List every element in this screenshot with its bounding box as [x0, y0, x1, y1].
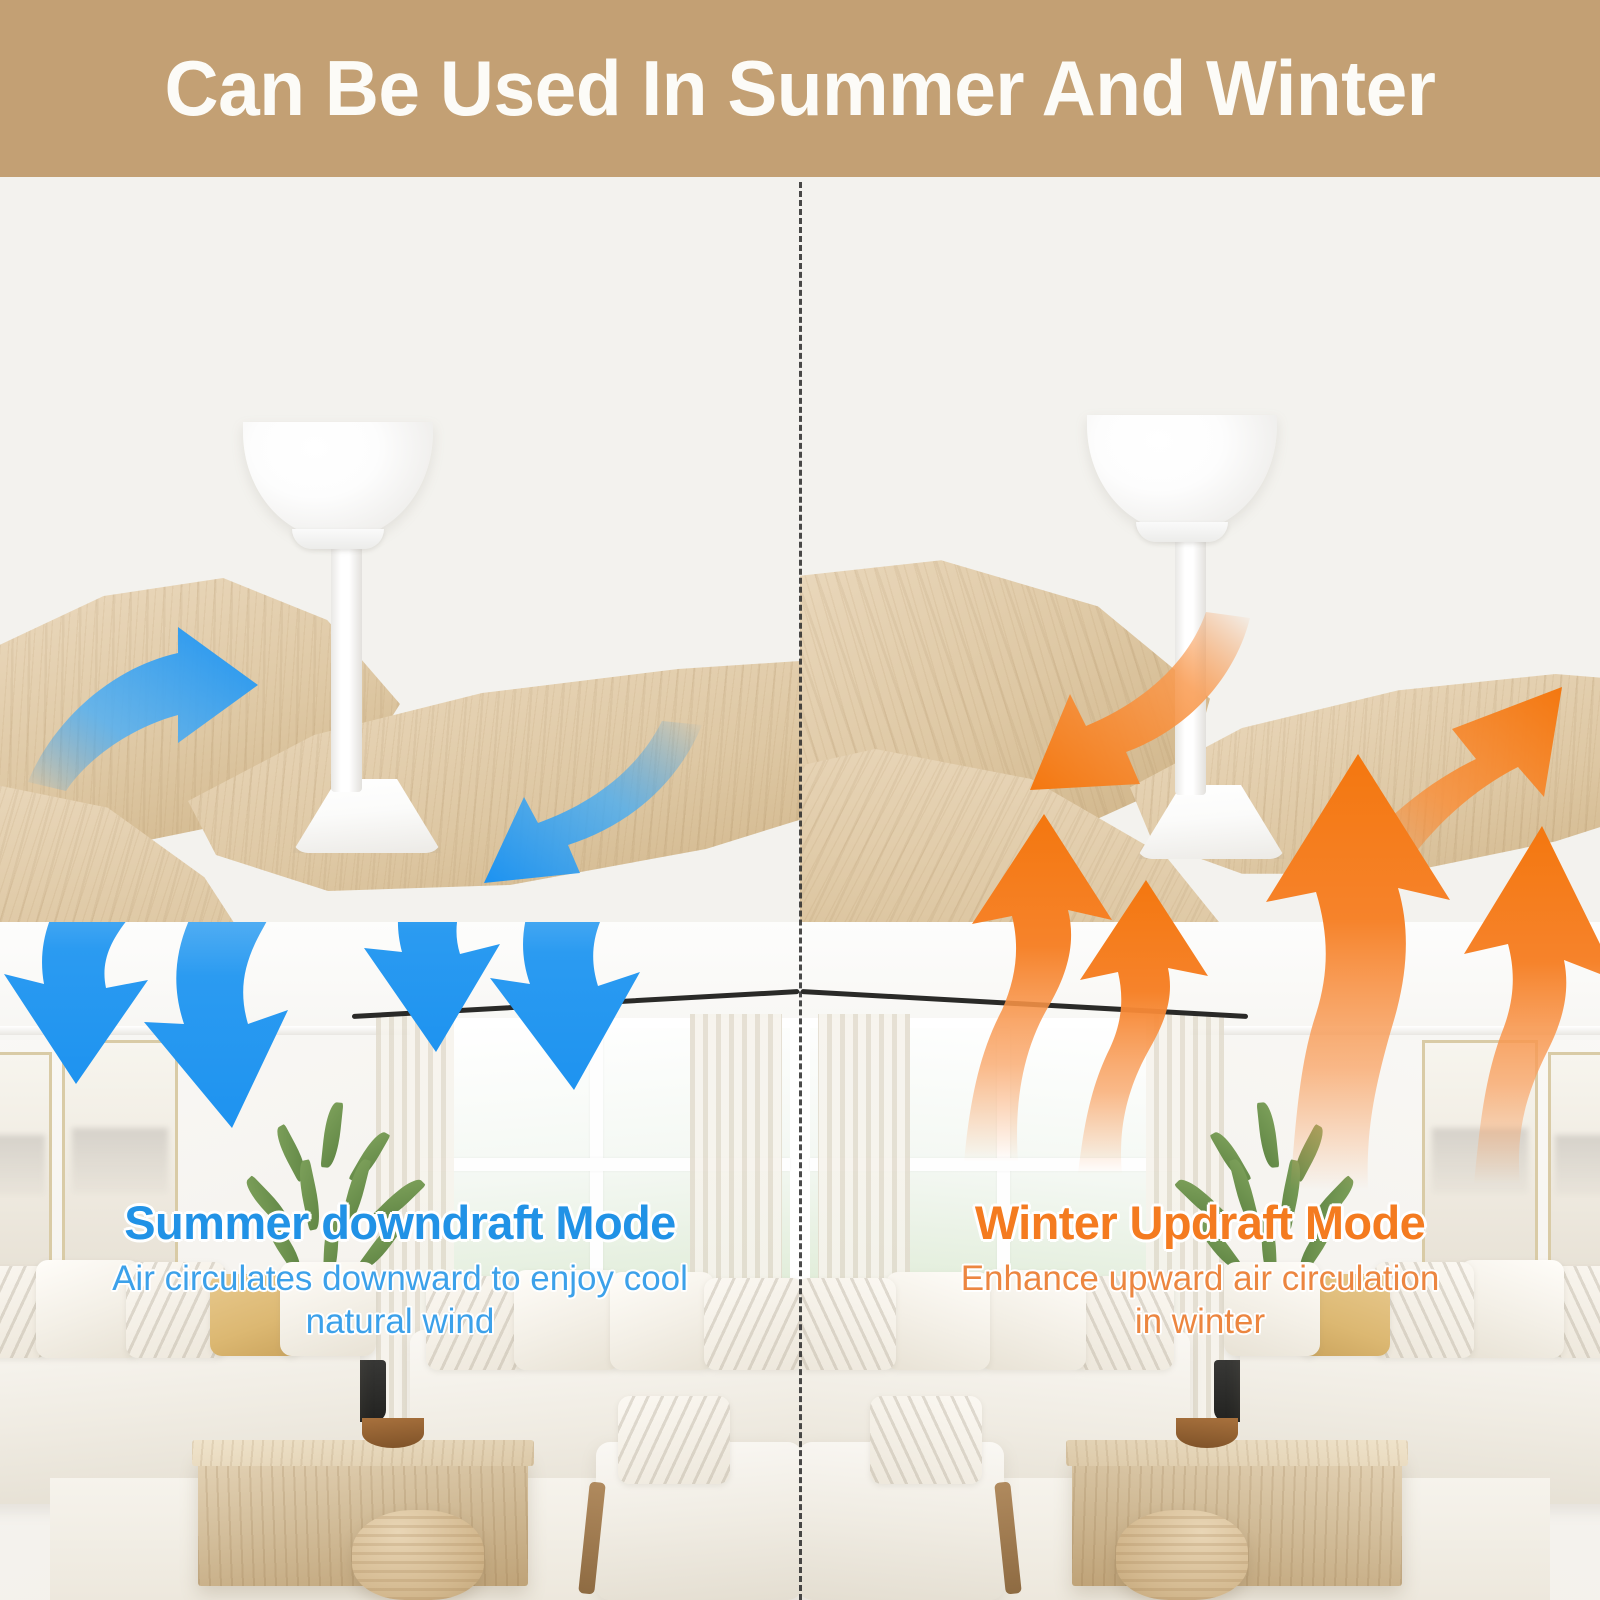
decor-bowl	[362, 1418, 424, 1448]
summer-fan-illustration	[0, 177, 800, 922]
fan-ceiling-canopy	[243, 422, 433, 540]
decor-bowl	[1176, 1418, 1238, 1448]
room-airflow-arrows-winter	[800, 722, 1600, 1282]
room-airflow-arrows-summer	[0, 922, 800, 1282]
pouf-ottoman	[1116, 1510, 1248, 1600]
fan-ceiling-canopy	[1087, 415, 1277, 533]
motor-rotation-arrow-summer	[10, 577, 370, 797]
page-title: Can Be Used In Summer And Winter	[164, 43, 1435, 134]
summer-living-room-scene: Summer downdraft Mode Air circulates dow…	[0, 922, 800, 1600]
armchair	[800, 1442, 1004, 1600]
coffee-table-top	[192, 1440, 534, 1466]
infographic-page: Can Be Used In Summer And Winter	[0, 0, 1600, 1600]
coffee-table-top	[1066, 1440, 1408, 1466]
blade-direction-arrow-summer	[440, 697, 720, 917]
armchair	[596, 1442, 800, 1600]
panel-summer: Summer downdraft Mode Air circulates dow…	[0, 177, 800, 1600]
header-banner: Can Be Used In Summer And Winter	[0, 0, 1600, 177]
panel-winter: Winter Updraft Mode Enhance upward air c…	[800, 177, 1600, 1600]
pouf-ottoman	[352, 1510, 484, 1600]
panel-divider	[799, 182, 802, 1600]
